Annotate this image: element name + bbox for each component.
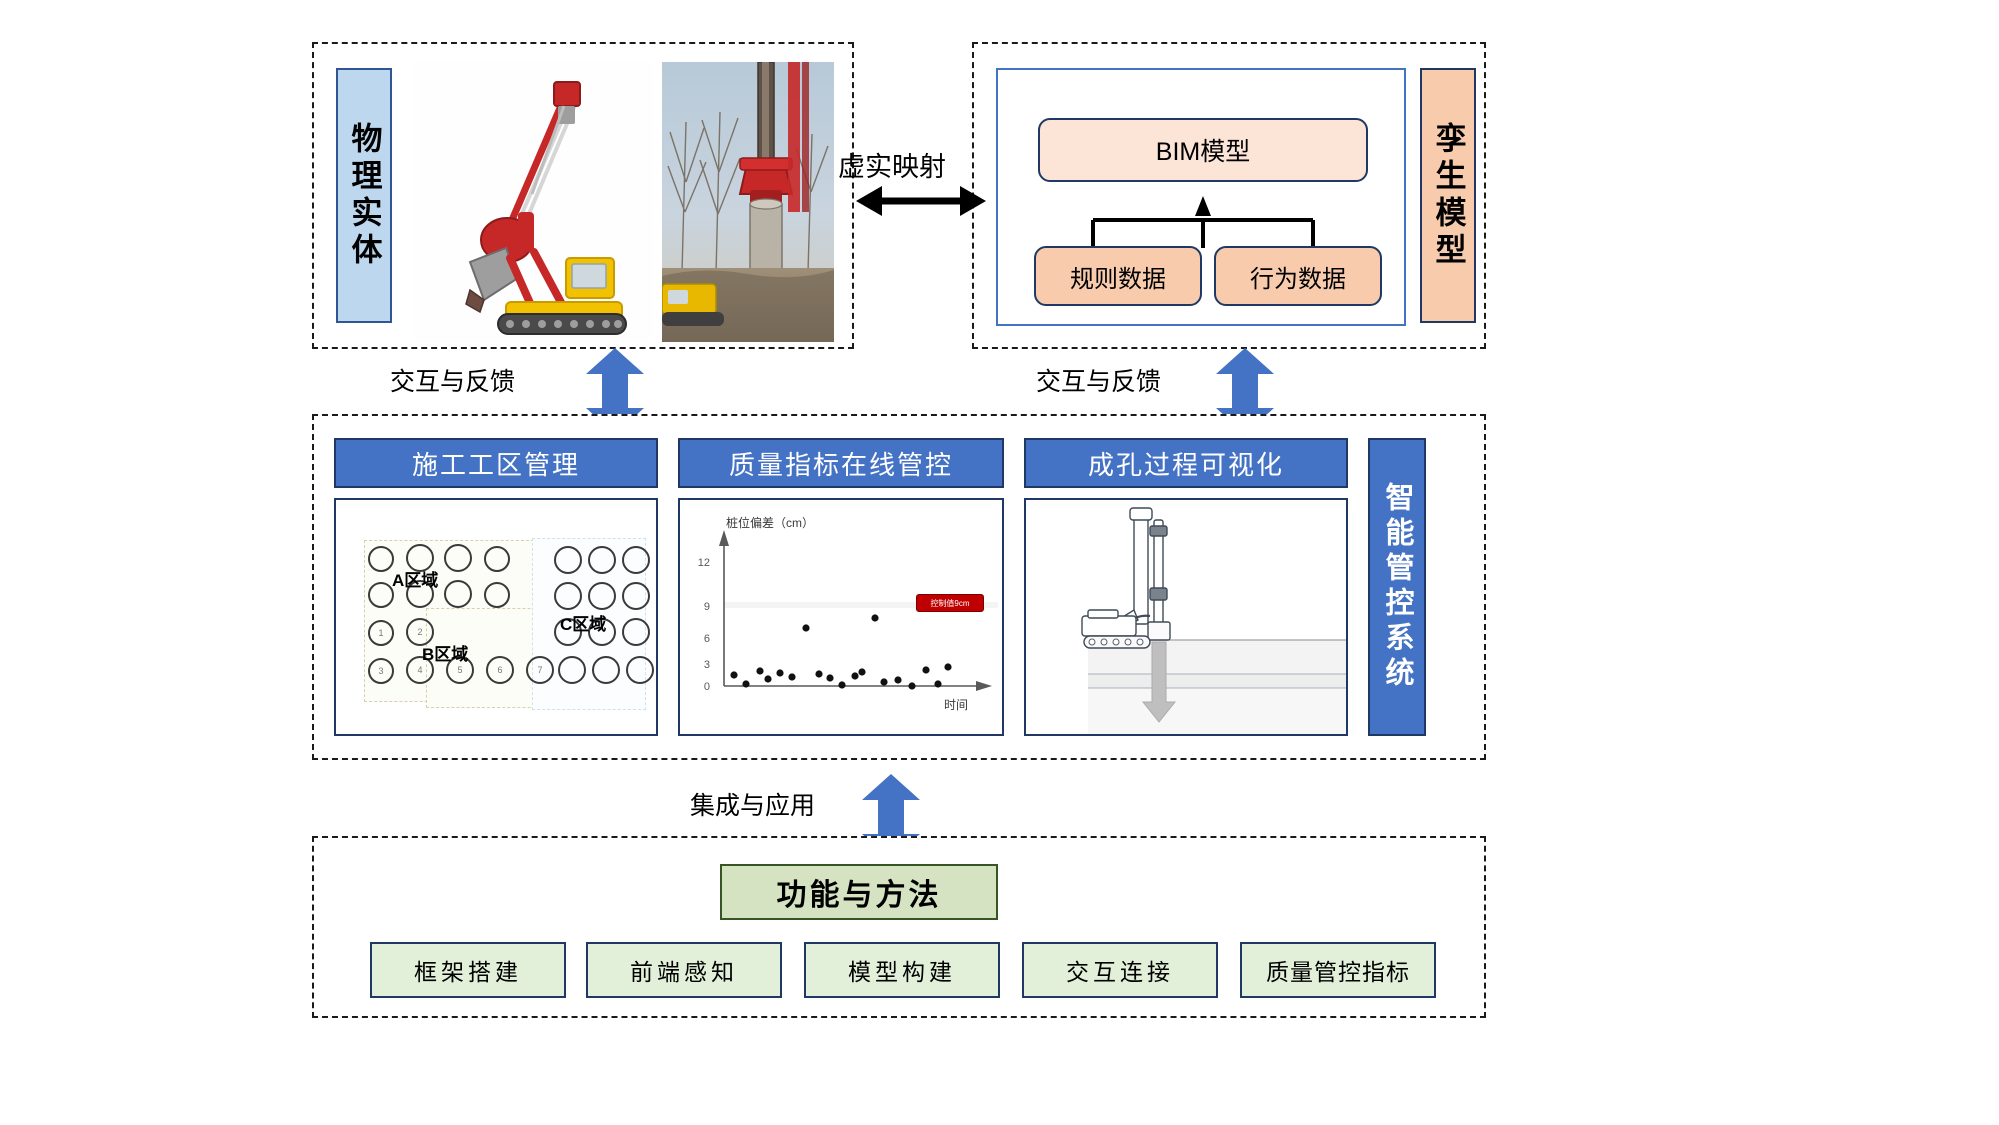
svg-text:0: 0 [704, 681, 710, 693]
feedback-left-label: 交互与反馈 [390, 362, 515, 398]
zone-a-label: A区域 [392, 566, 438, 591]
pile-number: 1 [378, 628, 383, 638]
function-item-frontend-sensing[interactable]: 前端感知 [586, 942, 782, 998]
integration-label: 集成与应用 [690, 786, 815, 822]
pile-marker [484, 546, 510, 572]
pile-number: 3 [378, 666, 383, 676]
pile-number: 4 [417, 665, 422, 675]
chart-xlabel: 时间 [944, 696, 968, 713]
twin-model-side-label: 孪生模型 [1420, 68, 1476, 323]
feedback-right-label: 交互与反馈 [1036, 362, 1161, 398]
pile-marker [622, 582, 650, 610]
pile-marker [588, 546, 616, 574]
pile-marker [368, 582, 394, 608]
functions-methods-title: 功能与方法 [720, 864, 998, 920]
pile-marker [626, 656, 654, 684]
pile-marker [368, 546, 394, 572]
drilling-process-illustration [1024, 498, 1348, 736]
pile-number: 2 [417, 627, 422, 637]
behavior-data-node: 行为数据 [1214, 246, 1382, 306]
svg-text:3: 3 [704, 659, 710, 671]
function-item-framework[interactable]: 框架搭建 [370, 942, 566, 998]
svg-text:6: 6 [704, 633, 710, 645]
function-item-quality-indicators[interactable]: 质量管控指标 [1240, 942, 1436, 998]
pile-marker [622, 546, 650, 574]
pile-drilling-site-photo [662, 62, 834, 342]
pile-marker-6: 6 [486, 656, 514, 684]
svg-text:9: 9 [704, 601, 710, 613]
pile-marker [554, 582, 582, 610]
pile-marker [444, 544, 472, 572]
svg-text:12: 12 [698, 557, 710, 569]
construction-zone-grid: 1 2 3 4 5 6 7 A区域 B区域 C区域 [334, 498, 658, 736]
zone-c-label: C区域 [560, 610, 606, 635]
chart-ylabel: 桩位偏差（cm） [726, 514, 814, 531]
zone-b-label: B区域 [422, 640, 468, 665]
rig-photo-svg [414, 62, 654, 342]
pile-marker [444, 580, 472, 608]
panel-header-quality-control[interactable]: 质量指标在线管控 [678, 438, 1004, 488]
drilling-illustration-svg [1026, 500, 1348, 736]
mapping-arrow-icon [856, 180, 986, 222]
pile-number: 5 [457, 665, 462, 675]
twin-model-inner-frame: BIM模型 规则数据 行为数据 [996, 68, 1406, 326]
bim-model-node: BIM模型 [1038, 118, 1368, 182]
chart-control-value-annotation: 控制值9cm [916, 594, 984, 612]
pile-number: 7 [537, 665, 542, 675]
site-photo-svg [662, 62, 834, 342]
quality-scatter-chart: 12 9 6 3 0 [678, 498, 1004, 736]
pile-marker [588, 582, 616, 610]
pile-marker-3: 3 [368, 658, 394, 684]
diagram-root: { "diagram": { "title": "数字孪生智能管控系统架构图",… [0, 0, 1999, 1125]
pile-marker-7: 7 [526, 656, 554, 684]
physical-entity-panel: 物理实体 [312, 42, 854, 349]
physical-entity-side-label: 物理实体 [336, 68, 392, 323]
pile-marker [554, 546, 582, 574]
functions-methods-panel: 功能与方法 框架搭建 前端感知 模型构建 交互连接 质量管控指标 [312, 836, 1486, 1018]
control-system-panel: 施工工区管理 1 2 3 4 5 6 7 [312, 414, 1486, 760]
function-item-model-building[interactable]: 模型构建 [804, 942, 1000, 998]
pile-marker [558, 656, 586, 684]
rule-data-node: 规则数据 [1034, 246, 1202, 306]
panel-header-zone-management[interactable]: 施工工区管理 [334, 438, 658, 488]
pile-marker-1: 1 [368, 620, 394, 646]
twin-model-panel: BIM模型 规则数据 行为数据 孪生模型 [972, 42, 1486, 349]
panel-header-drilling-visualization[interactable]: 成孔过程可视化 [1024, 438, 1348, 488]
twin-connector-lines [998, 180, 1408, 250]
pile-number: 6 [497, 665, 502, 675]
pile-marker [592, 656, 620, 684]
pile-marker [622, 618, 650, 646]
rotary-drilling-rig-photo [414, 62, 654, 342]
pile-marker [484, 582, 510, 608]
mapping-label: 虚实映射 [838, 145, 946, 184]
function-item-interaction-connection[interactable]: 交互连接 [1022, 942, 1218, 998]
control-system-side-label: 智能管控系统 [1368, 438, 1426, 736]
